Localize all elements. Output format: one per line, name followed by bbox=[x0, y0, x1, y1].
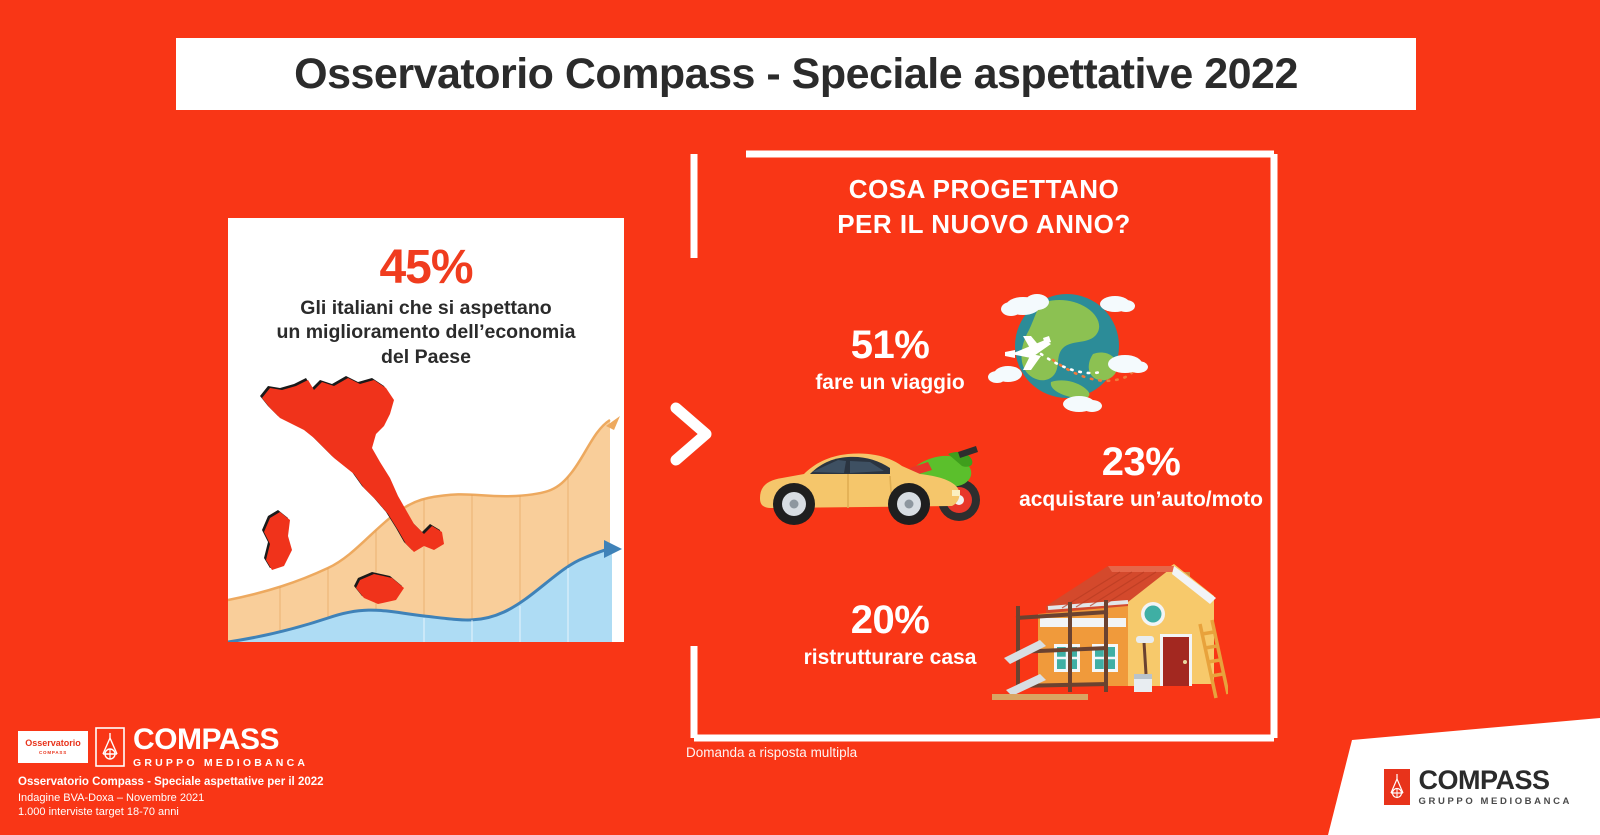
left-card-caption: Gli italiani che si aspettano un miglior… bbox=[236, 296, 616, 369]
title-bar: Osservatorio Compass - Speciale aspettat… bbox=[176, 38, 1416, 110]
multiple-answer-note: Domanda a risposta multipla bbox=[686, 745, 857, 760]
left-card-percent: 45% bbox=[228, 240, 624, 295]
left-stat-card: 45% Gli italiani che si aspettano un mig… bbox=[228, 218, 624, 642]
footer-logo-row: Osservatorio COMPASS COMPASS GRUPPO MEDI… bbox=[18, 726, 438, 768]
stat-percent-travel: 51% bbox=[790, 325, 990, 365]
blue-arrow-tip bbox=[604, 540, 622, 558]
chevron-right-icon bbox=[662, 398, 720, 470]
footer-line-3: 1.000 interviste target 18-70 anni bbox=[18, 805, 438, 820]
stat-block-home: 20% ristrutturare casa bbox=[785, 600, 995, 669]
footer-line-2: Indagine BVA-Doxa – Novembre 2021 bbox=[18, 791, 438, 806]
footer-left: Osservatorio COMPASS COMPASS GRUPPO MEDI… bbox=[18, 726, 438, 820]
stat-label-travel: fare un viaggio bbox=[790, 371, 990, 394]
footer-brand: COMPASS bbox=[133, 725, 308, 755]
osservatorio-badge-sub: COMPASS bbox=[39, 750, 67, 755]
stat-label-home: ristrutturare casa bbox=[785, 646, 995, 669]
stat-block-vehicle: 23% acquistare un’auto/moto bbox=[1000, 442, 1282, 511]
caption-line-3: del Paese bbox=[236, 345, 616, 369]
question-line-2: PER IL NUOVO ANNO? bbox=[686, 207, 1282, 242]
question-line-1: COSA PROGETTANO bbox=[686, 172, 1282, 207]
corner-brand: COMPASS bbox=[1419, 767, 1572, 794]
compass-pendulum-icon bbox=[95, 727, 125, 767]
stat-percent-vehicle: 23% bbox=[1000, 442, 1282, 482]
compass-pendulum-icon-dark bbox=[1384, 769, 1410, 805]
corner-logo: COMPASS GRUPPO MEDIOBANCA bbox=[1384, 767, 1572, 807]
italy-map-icon bbox=[250, 368, 470, 638]
footer-brand-sub: GRUPPO MEDIOBANCA bbox=[133, 757, 308, 769]
footer-source-lines: Osservatorio Compass - Speciale aspettat… bbox=[18, 775, 438, 820]
house-renovation-icon bbox=[978, 552, 1228, 700]
stat-label-vehicle: acquistare un’auto/moto bbox=[1000, 488, 1282, 511]
stat-block-travel: 51% fare un viaggio bbox=[790, 325, 990, 394]
osservatorio-badge-main: Osservatorio bbox=[25, 739, 81, 748]
corner-brand-sub: GRUPPO MEDIOBANCA bbox=[1419, 796, 1572, 807]
stat-percent-home: 20% bbox=[785, 600, 995, 640]
caption-line-1: Gli italiani che si aspettano bbox=[236, 296, 616, 320]
car-motorcycle-icon bbox=[752, 428, 984, 530]
question-heading: COSA PROGETTANO PER IL NUOVO ANNO? bbox=[686, 172, 1282, 242]
infographic-canvas: Osservatorio Compass - Speciale aspettat… bbox=[0, 0, 1600, 835]
osservatorio-badge: Osservatorio COMPASS bbox=[18, 731, 88, 763]
page-title: Osservatorio Compass - Speciale aspettat… bbox=[294, 50, 1298, 99]
caption-line-2: un miglioramento dell’economia bbox=[236, 320, 616, 344]
globe-airplane-icon bbox=[975, 278, 1155, 418]
footer-brand-block: COMPASS GRUPPO MEDIOBANCA bbox=[133, 725, 308, 769]
corner-brand-block: COMPASS GRUPPO MEDIOBANCA bbox=[1419, 767, 1572, 807]
footer-line-1: Osservatorio Compass - Speciale aspettat… bbox=[18, 775, 438, 791]
